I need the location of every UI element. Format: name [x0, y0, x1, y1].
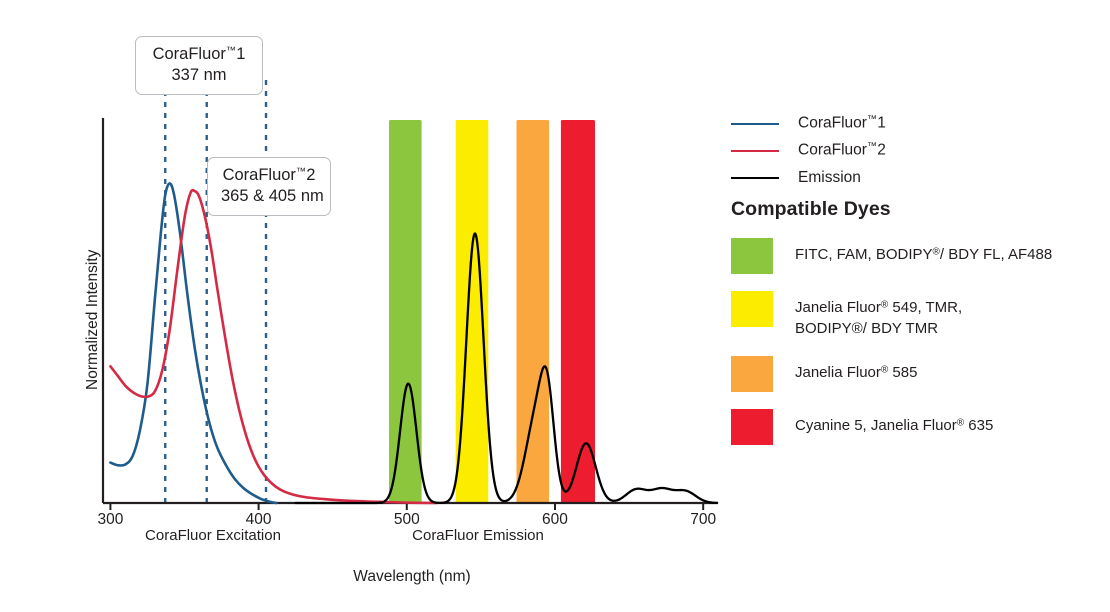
chart-legend: CoraFluor™1CoraFluor™2Emission [731, 110, 1091, 191]
legend-swatch-line [731, 123, 779, 125]
legend-item-label: Emission [798, 169, 861, 187]
trademark-icon: ™ [867, 141, 877, 152]
axis-sublabel-excitation: CoraFluor Excitation [145, 527, 281, 544]
legend-item-label: CoraFluor™1 [798, 114, 886, 133]
callout-1-suffix: 1 [236, 45, 245, 63]
legend-item-0: CoraFluor™1 [731, 110, 1091, 137]
chart-figure: CoraFluor™1 337 nm CoraFluor™2 365 & 405… [0, 0, 1110, 612]
y-axis-title: Normalized Intensity [84, 250, 102, 390]
x-axis-title: Wavelength (nm) [353, 568, 470, 586]
dye-color-swatch [731, 291, 773, 327]
axis-sublabel-emission: CoraFluor Emission [412, 527, 544, 544]
compatible-dyes-panel: Compatible Dyes FITC, FAM, BODIPY®/ BDY … [731, 198, 1101, 462]
compatible-dyes-heading: Compatible Dyes [731, 198, 1101, 221]
callout-2-suffix: 2 [306, 166, 315, 184]
callout-2-line2: 365 & 405 nm [221, 186, 317, 207]
legend-item-1: CoraFluor™2 [731, 137, 1091, 164]
x-tick-label-600: 600 [542, 511, 568, 529]
dye-label: Cyanine 5, Janelia Fluor® 635 [795, 409, 993, 437]
trademark-icon: ™ [296, 167, 306, 178]
x-tick-label-300: 300 [97, 511, 123, 529]
dye-label: FITC, FAM, BODIPY®/ BDY FL, AF488 [795, 238, 1052, 266]
compatible-dyes-list: FITC, FAM, BODIPY®/ BDY FL, AF488Janelia… [731, 238, 1101, 445]
callout-1-name: CoraFluor [153, 45, 226, 63]
dye-item-1: Janelia Fluor® 549, TMR, BODIPY®/ BDY TM… [731, 291, 1101, 339]
legend-swatch-line [731, 177, 779, 179]
registered-icon: ® [933, 247, 940, 258]
dye-label: Janelia Fluor® 585 [795, 356, 917, 384]
emission-band-orange [516, 120, 549, 503]
callout-corafluor-1: CoraFluor™1 337 nm [135, 36, 263, 95]
callout-corafluor-2: CoraFluor™2 365 & 405 nm [207, 157, 331, 216]
dye-color-swatch [731, 409, 773, 445]
callout-2-name: CoraFluor [223, 166, 296, 184]
curve-emission [296, 234, 717, 504]
x-tick-label-700: 700 [690, 511, 716, 529]
dye-color-swatch [731, 356, 773, 392]
emission-band-group [389, 120, 595, 503]
curve-corafluor-1 [110, 183, 276, 503]
dye-item-2: Janelia Fluor® 585 [731, 356, 1101, 392]
trademark-icon: ™ [226, 46, 236, 57]
dye-color-swatch [731, 238, 773, 274]
dye-item-0: FITC, FAM, BODIPY®/ BDY FL, AF488 [731, 238, 1101, 274]
callout-1-line1: CoraFluor™1 [149, 44, 249, 65]
callout-1-line2: 337 nm [149, 65, 249, 86]
callout-2-line1: CoraFluor™2 [221, 165, 317, 186]
trademark-icon: ™ [867, 114, 877, 125]
legend-item-2: Emission [731, 164, 1091, 191]
emission-band-green [389, 120, 422, 503]
legend-swatch-line [731, 150, 779, 152]
legend-item-label: CoraFluor™2 [798, 141, 886, 160]
dye-label: Janelia Fluor® 549, TMR, BODIPY®/ BDY TM… [795, 291, 962, 339]
dye-item-3: Cyanine 5, Janelia Fluor® 635 [731, 409, 1101, 445]
